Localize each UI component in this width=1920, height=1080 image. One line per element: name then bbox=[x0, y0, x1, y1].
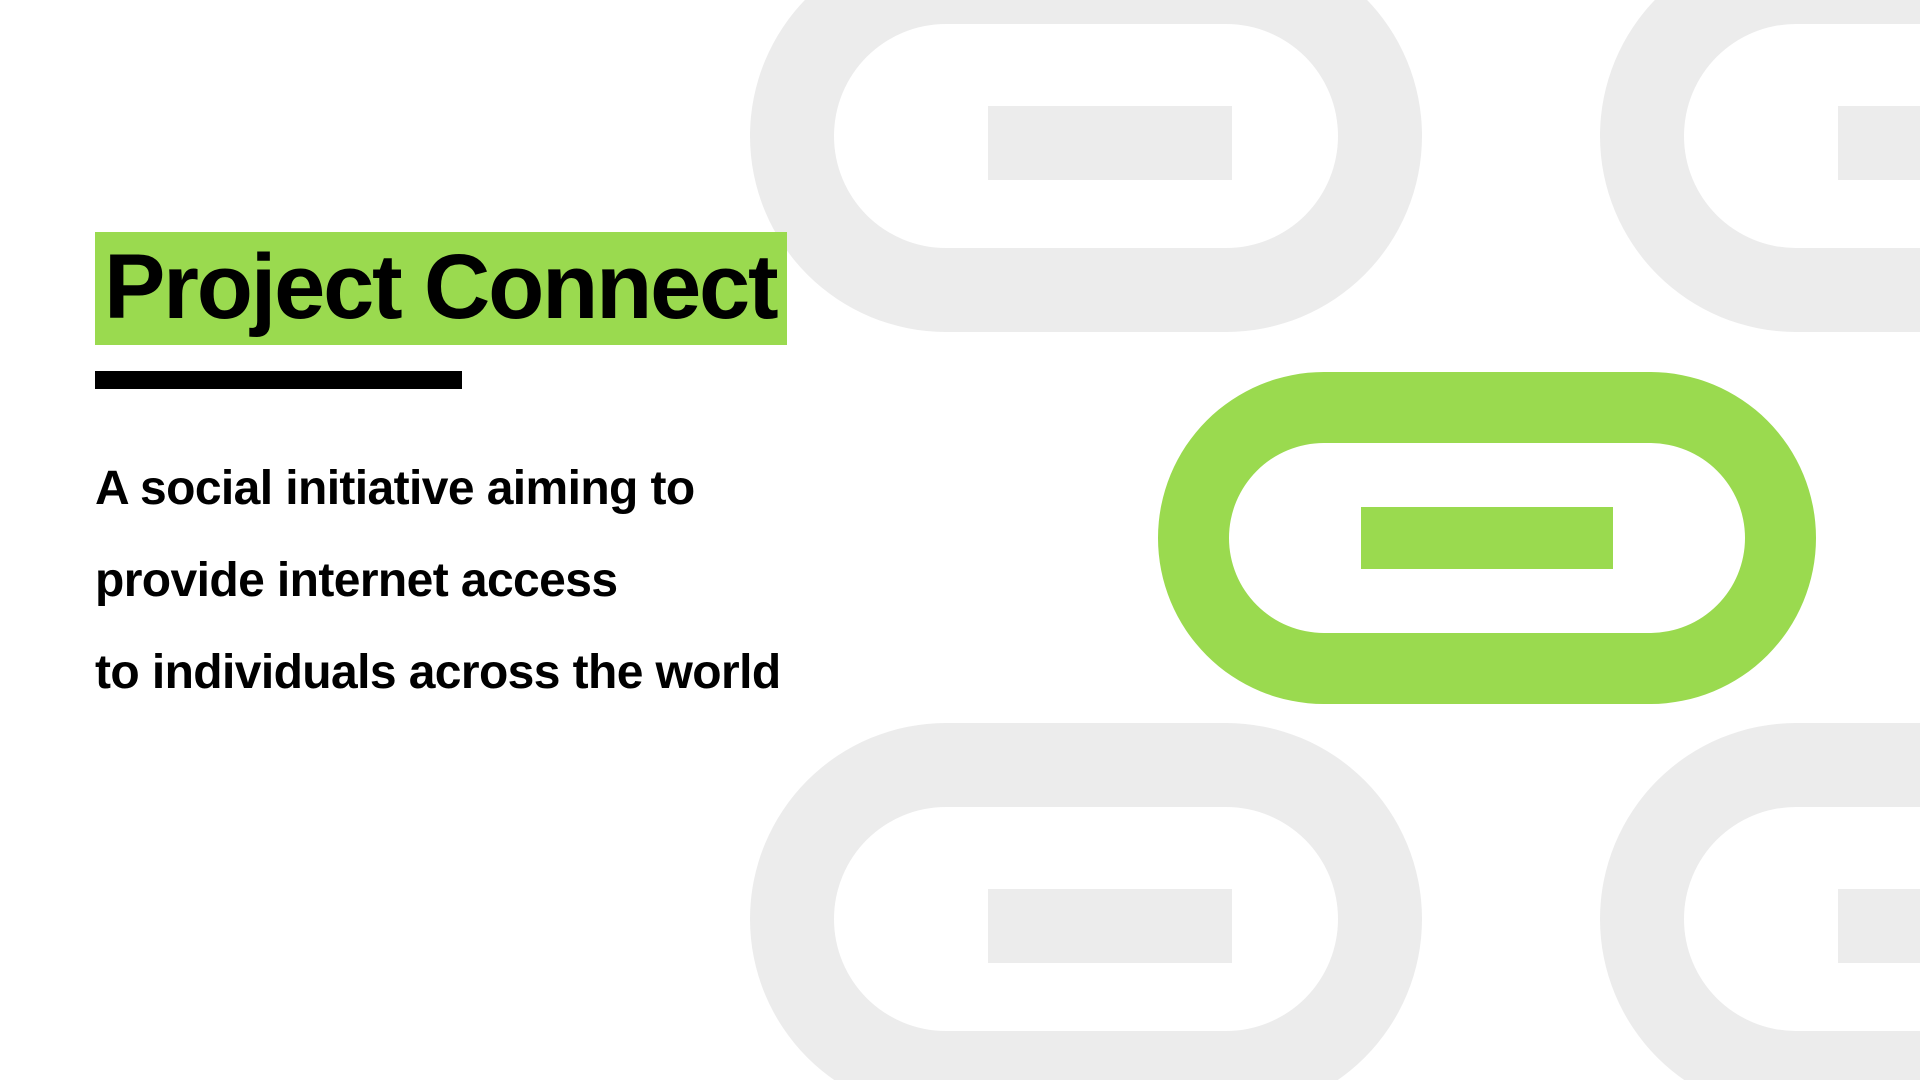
subtitle: A social initiative aiming to provide in… bbox=[95, 443, 1095, 719]
chain-link-icon bbox=[1158, 372, 1816, 704]
watermark-chain-link-icon-top-right bbox=[1600, 0, 1920, 332]
watermark-chain-link-icon-bottom-center bbox=[750, 723, 1422, 1080]
subtitle-line-3: to individuals across the world bbox=[95, 627, 1095, 719]
subtitle-line-1: A social initiative aiming to bbox=[95, 443, 1095, 535]
text-block: Project Connect A social initiative aimi… bbox=[95, 232, 1095, 719]
page-title: Project Connect bbox=[95, 232, 787, 345]
slide-canvas: Project Connect A social initiative aimi… bbox=[0, 0, 1920, 1080]
watermark-chain-link-icon-bottom-right bbox=[1600, 723, 1920, 1080]
title-divider bbox=[95, 371, 462, 389]
title-row: Project Connect bbox=[95, 232, 1095, 345]
subtitle-line-2: provide internet access bbox=[95, 535, 1095, 627]
